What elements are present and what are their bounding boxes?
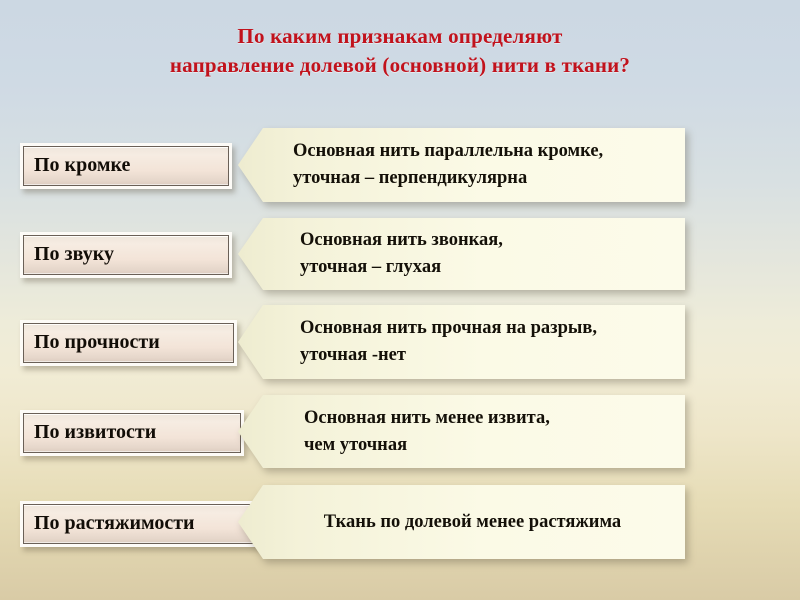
page-title: По каким признакам определяют направлени… xyxy=(0,22,800,80)
criterion-label-inner: По прочности xyxy=(23,323,234,363)
criterion-banner-text-4: Основная нить менее извита, чем уточная xyxy=(238,405,550,459)
banner-line: чем уточная xyxy=(304,432,550,459)
criterion-label-inner: По кромке xyxy=(23,146,229,186)
banner-line: Основная нить прочная на разрыв, xyxy=(300,315,597,342)
criterion-banner-text-5: Ткань по долевой менее растяжима xyxy=(238,509,685,536)
banner-line: Основная нить параллельна кромке, xyxy=(293,138,603,165)
banner-line: уточная – перпендикулярна xyxy=(293,165,603,192)
criterion-label-box-5[interactable]: По растяжимости xyxy=(20,501,265,547)
page-title-line-2: направление долевой (основной) нити в тк… xyxy=(0,51,800,80)
banner-shape: Ткань по долевой менее растяжима xyxy=(238,485,685,559)
criterion-label-box-3[interactable]: По прочности xyxy=(20,320,237,366)
criterion-label-text-3: По прочности xyxy=(34,330,223,355)
criterion-label-box-1[interactable]: По кромке xyxy=(20,143,232,189)
page-title-line-1: По каким признакам определяют xyxy=(0,22,800,51)
criterion-label-inner: По звуку xyxy=(23,235,229,275)
criterion-row: По кромке Основная нить параллельна кром… xyxy=(0,128,800,202)
banner-shape: Основная нить звонкая, уточная – глухая xyxy=(238,218,685,290)
criterion-label-inner: По извитости xyxy=(23,413,241,453)
banner-line: уточная – глухая xyxy=(300,254,503,281)
banner-line: Основная нить звонкая, xyxy=(300,227,503,254)
criterion-banner-5[interactable]: Ткань по долевой менее растяжима xyxy=(238,485,685,559)
banner-line: Основная нить менее извита, xyxy=(304,405,550,432)
criterion-banner-text-1: Основная нить параллельна кромке, уточна… xyxy=(238,138,603,192)
criterion-row: По прочности Основная нить прочная на ра… xyxy=(0,305,800,379)
criterion-banner-1[interactable]: Основная нить параллельна кромке, уточна… xyxy=(238,128,685,202)
criterion-row: По звуку Основная нить звонкая, уточная … xyxy=(0,218,800,290)
criterion-banner-3[interactable]: Основная нить прочная на разрыв, уточная… xyxy=(238,305,685,379)
criterion-label-inner: По растяжимости xyxy=(23,504,262,544)
banner-shape: Основная нить менее извита, чем уточная xyxy=(238,395,685,468)
criterion-banner-text-3: Основная нить прочная на разрыв, уточная… xyxy=(238,315,597,369)
criterion-row: По растяжимости Ткань по долевой менее р… xyxy=(0,485,800,559)
criterion-label-text-2: По звуку xyxy=(34,242,218,267)
criterion-banner-2[interactable]: Основная нить звонкая, уточная – глухая xyxy=(238,218,685,290)
criterion-row: По извитости Основная нить менее извита,… xyxy=(0,395,800,468)
criterion-label-text-1: По кромке xyxy=(34,153,218,178)
criterion-label-text-5: По растяжимости xyxy=(34,511,251,536)
banner-line: уточная -нет xyxy=(300,342,597,369)
criterion-banner-text-2: Основная нить звонкая, уточная – глухая xyxy=(238,227,503,281)
criterion-label-box-4[interactable]: По извитости xyxy=(20,410,244,456)
criterion-banner-4[interactable]: Основная нить менее извита, чем уточная xyxy=(238,395,685,468)
criterion-label-box-2[interactable]: По звуку xyxy=(20,232,232,278)
criterion-label-text-4: По извитости xyxy=(34,420,230,445)
banner-line: Ткань по долевой менее растяжима xyxy=(260,509,685,536)
banner-shape: Основная нить прочная на разрыв, уточная… xyxy=(238,305,685,379)
banner-shape: Основная нить параллельна кромке, уточна… xyxy=(238,128,685,202)
